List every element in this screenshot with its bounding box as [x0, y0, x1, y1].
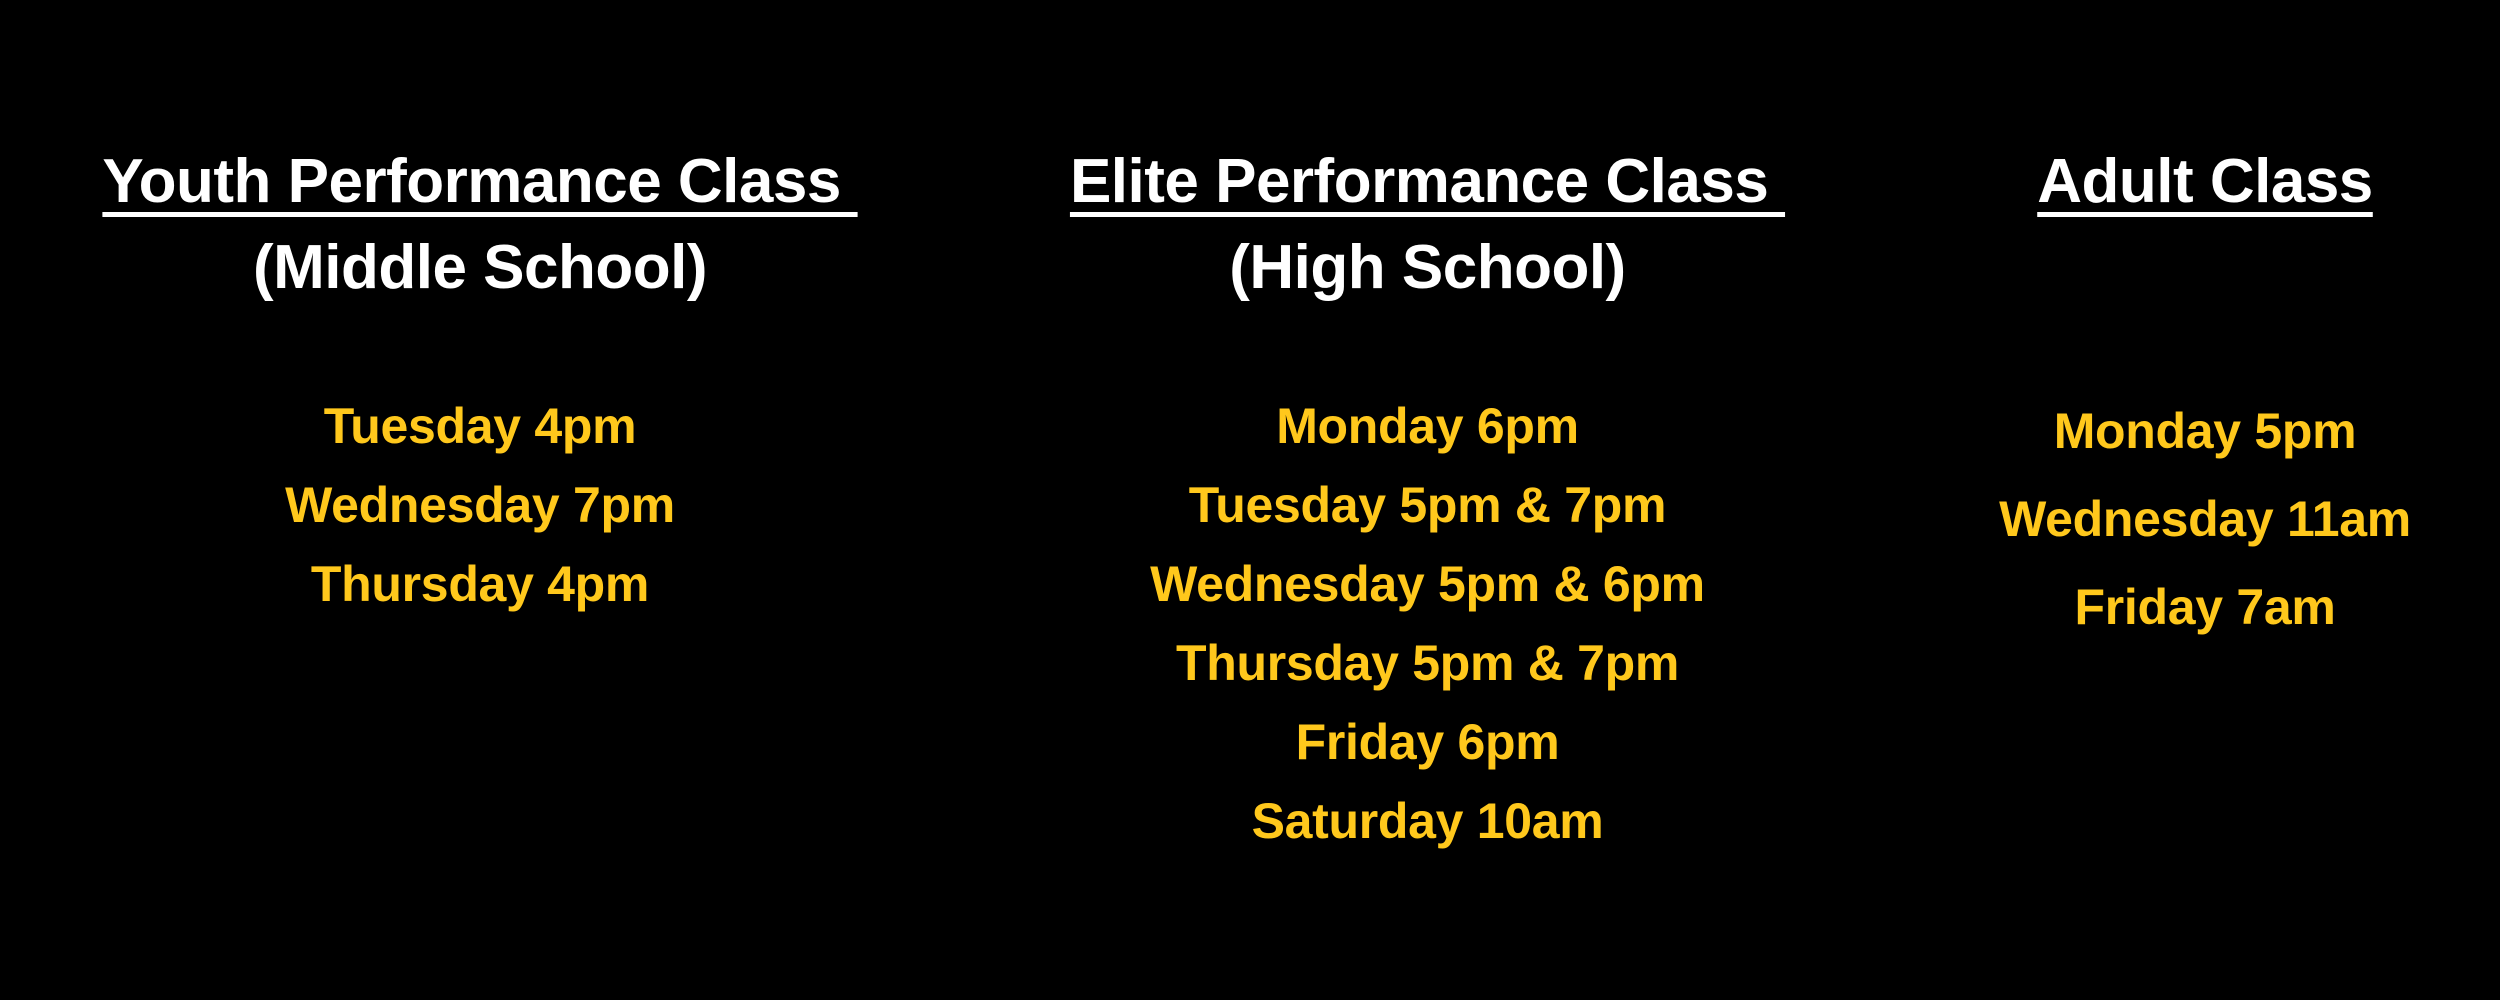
class-column-adult: Adult Class Monday 5pm Wednesday 11am Fr… — [1895, 0, 2500, 651]
column-title-elite: Elite Performance Class (High School) — [960, 51, 1895, 311]
column-title-adult: Adult Class — [1895, 51, 2500, 225]
schedule-item: Wednesday 5pm & 6pm — [960, 545, 1895, 624]
schedule-item: Monday 6pm — [960, 387, 1895, 466]
column-title-subtitle: (Middle School) — [0, 225, 960, 311]
schedule-item: Friday 7am — [1895, 563, 2500, 651]
column-title-subtitle: (High School) — [960, 225, 1895, 311]
schedule-list-youth: Tuesday 4pm Wednesday 7pm Thursday 4pm — [0, 387, 960, 624]
schedule-item: Thursday 4pm — [0, 545, 960, 624]
column-title-main: Youth Performance Class — [102, 139, 857, 225]
column-title-main: Elite Performance Class — [1070, 139, 1785, 225]
column-title-youth: Youth Performance Class (Middle School) — [0, 51, 960, 311]
schedule-board: Youth Performance Class (Middle School) … — [0, 0, 2500, 1000]
schedule-list-elite: Monday 6pm Tuesday 5pm & 7pm Wednesday 5… — [960, 387, 1895, 861]
class-column-elite: Elite Performance Class (High School) Mo… — [960, 0, 1895, 861]
schedule-item: Friday 6pm — [960, 703, 1895, 782]
schedule-item: Tuesday 5pm & 7pm — [960, 466, 1895, 545]
schedule-item: Monday 5pm — [1895, 387, 2500, 475]
schedule-item: Wednesday 11am — [1895, 475, 2500, 563]
schedule-item: Wednesday 7pm — [0, 466, 960, 545]
schedule-item: Thursday 5pm & 7pm — [960, 624, 1895, 703]
class-column-youth: Youth Performance Class (Middle School) … — [0, 0, 960, 624]
schedule-list-adult: Monday 5pm Wednesday 11am Friday 7am — [1895, 387, 2500, 651]
schedule-item: Saturday 10am — [960, 782, 1895, 861]
column-title-main: Adult Class — [2037, 139, 2373, 225]
schedule-item: Tuesday 4pm — [0, 387, 960, 466]
